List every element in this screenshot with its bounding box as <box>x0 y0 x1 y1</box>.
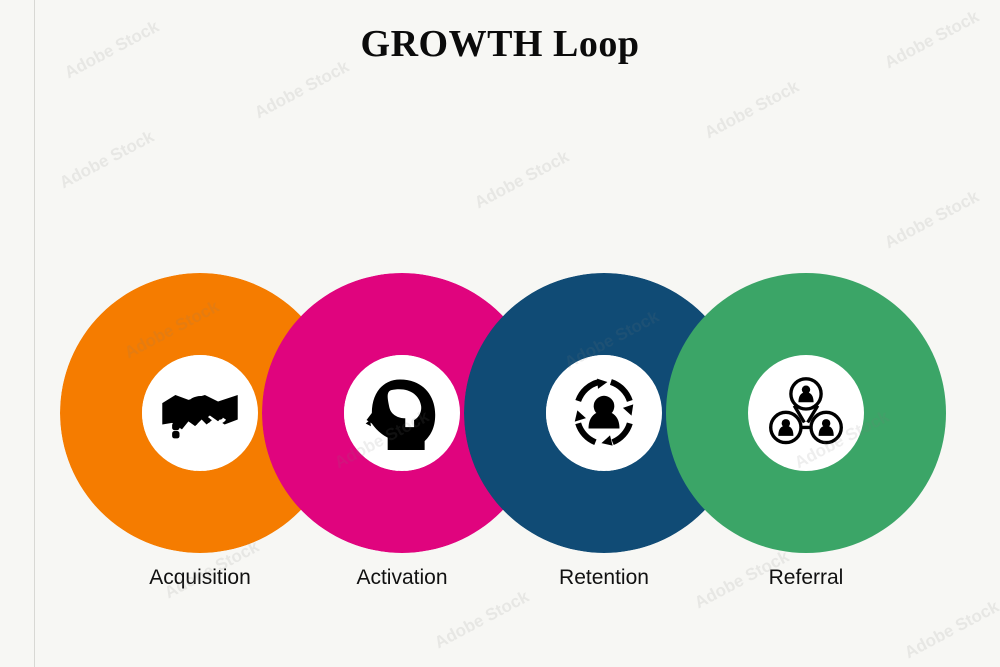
icon-disc <box>748 355 864 471</box>
step-label-retention: Retention <box>494 566 714 590</box>
step-label-activation: Activation <box>292 566 512 590</box>
step-label-acquisition: Acquisition <box>90 566 310 590</box>
infographic-canvas: Adobe Stock | #533929162 GROWTH Loop <box>0 0 1000 667</box>
step-label-referral: Referral <box>696 566 916 590</box>
step-ring-referral[interactable] <box>666 273 946 553</box>
